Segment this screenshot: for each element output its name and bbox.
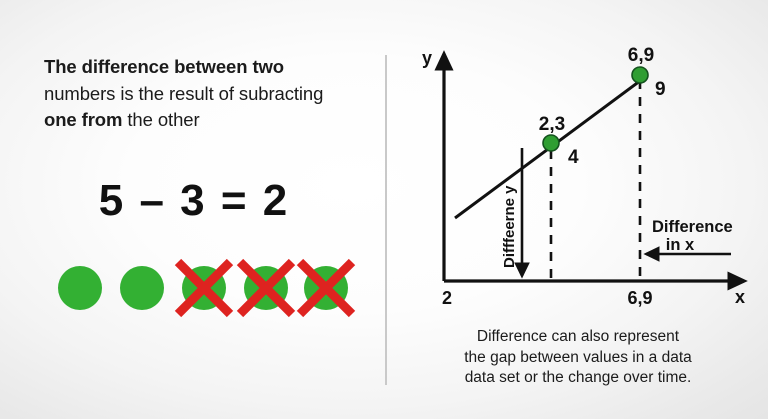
caption-line-3: data set or the change over time. <box>465 369 692 386</box>
dot-item-2 <box>120 266 164 310</box>
headline-line-2: numbers is the result of subracting <box>44 83 323 104</box>
difference-y-label: Difffeerne y <box>501 185 518 268</box>
data-point-upper-value: 9 <box>655 79 666 100</box>
caption-line-1: Difference can also represent <box>477 328 679 345</box>
y-axis-label: y <box>422 48 432 68</box>
difference-graph: y x 2 6,9 Difffeerne y Difference in x 2… <box>386 0 768 330</box>
headline-text: The difference between two numbers is th… <box>44 54 380 134</box>
difference-x-label-line2: in x <box>666 236 695 254</box>
x-tick-label-left: 2 <box>442 288 452 308</box>
headline-line-1: The difference between two <box>44 56 284 77</box>
difference-x-label-line1: Difference <box>652 218 733 236</box>
dot-item-4 <box>244 266 288 310</box>
equation-text: 5 – 3 = 2 <box>44 176 344 226</box>
caption-line-2: the gap between values in a data <box>464 349 692 366</box>
x-axis-label: x <box>735 287 745 307</box>
data-point-lower-label: 2,3 <box>539 114 565 135</box>
left-panel: The difference between two numbers is th… <box>0 0 386 419</box>
x-tick-label-right: 6,9 <box>627 288 652 308</box>
dots-row <box>58 266 348 322</box>
slide-canvas: The difference between two numbers is th… <box>0 0 768 419</box>
dot-item-3 <box>182 266 226 310</box>
red-cross-icon <box>235 257 297 319</box>
dot-item-5 <box>304 266 348 310</box>
green-circle-icon <box>120 266 164 310</box>
headline-line-3-normal: the other <box>122 109 199 130</box>
right-panel: y x 2 6,9 Difffeerne y Difference in x 2… <box>386 0 768 419</box>
headline-line-3-bold: one from <box>44 109 122 130</box>
caption-text: Difference can also represent the gap be… <box>398 327 758 389</box>
red-cross-icon <box>173 257 235 319</box>
red-cross-icon <box>295 257 357 319</box>
data-point-lower <box>543 135 559 151</box>
green-circle-icon <box>58 266 102 310</box>
data-point-lower-value: 4 <box>568 147 579 168</box>
data-point-upper <box>632 67 648 83</box>
dot-item-1 <box>58 266 102 310</box>
data-point-upper-label: 6,9 <box>628 45 654 66</box>
